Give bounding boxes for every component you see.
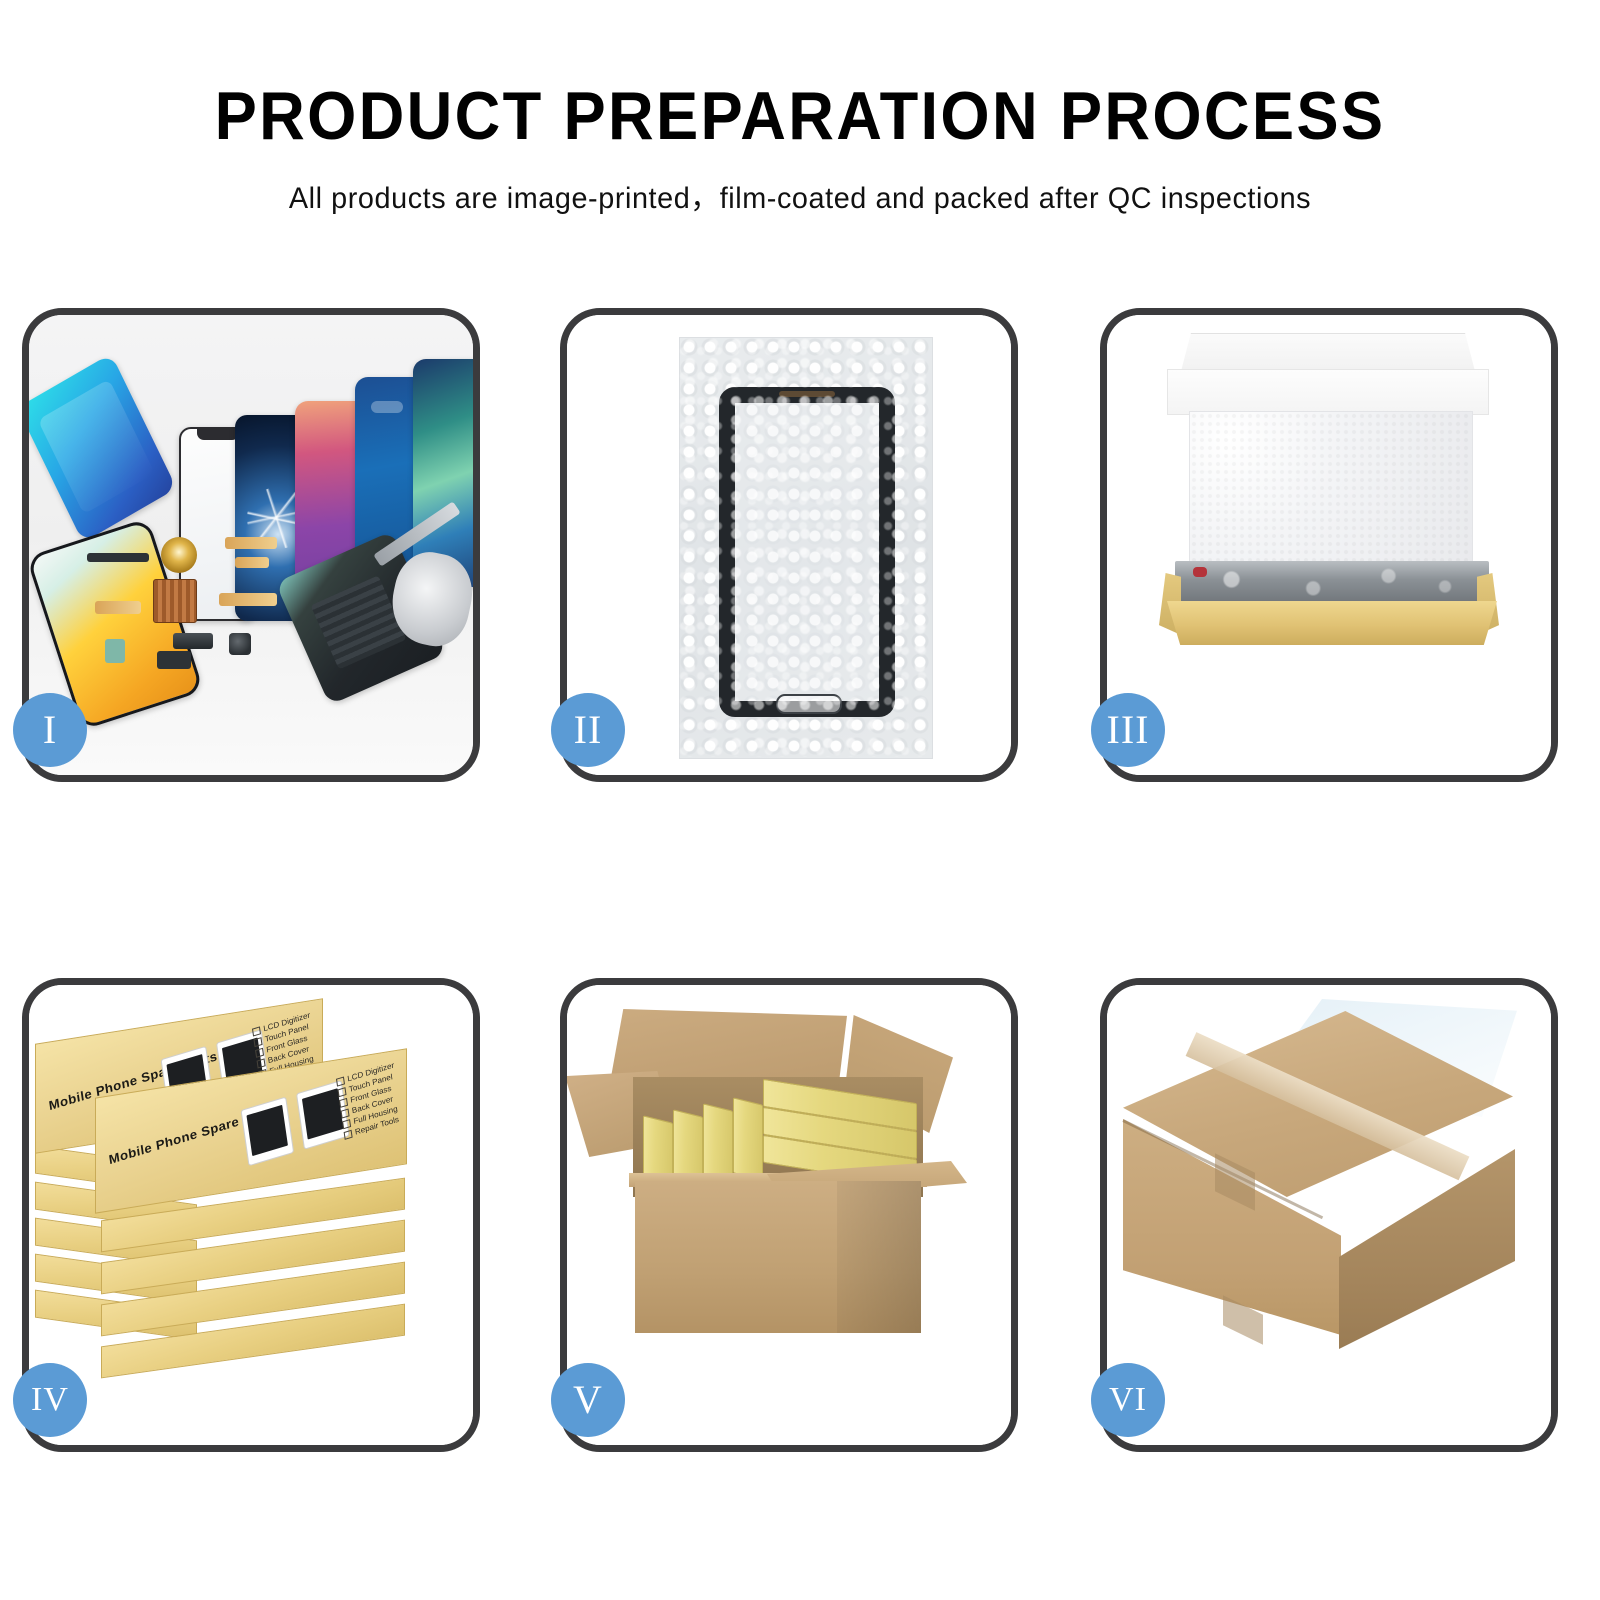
volume-flex-part xyxy=(219,593,277,606)
step-image-2 xyxy=(567,315,1011,775)
page-subtitle: All products are image-printed，film-coat… xyxy=(32,151,1568,217)
carton-body xyxy=(635,1181,921,1333)
vibrator-part xyxy=(157,651,191,669)
step-badge-1: I xyxy=(13,693,87,767)
sealed-carton-side xyxy=(1339,1149,1515,1349)
ic-chip-part xyxy=(153,579,197,623)
box-lid-panel xyxy=(1167,369,1489,415)
sealed-carton-scene xyxy=(1107,985,1551,1445)
wrapped-screen-in-box xyxy=(1175,561,1489,605)
step-badge-5: V xyxy=(551,1363,625,1437)
sim-tray-part xyxy=(105,639,125,663)
step-image-1 xyxy=(29,315,473,775)
page-header: PRODUCT PREPARATION PROCESS All products… xyxy=(0,0,1600,217)
step-image-5 xyxy=(567,985,1011,1445)
step-badge-4: IV xyxy=(13,1363,87,1437)
earpiece-speaker-part xyxy=(87,553,149,562)
step-panel-5: V xyxy=(560,978,1018,1452)
mailer-box-scene xyxy=(1107,315,1551,775)
step-image-3 xyxy=(1107,315,1551,775)
flex-cable-part-a xyxy=(225,537,277,549)
mini-screen-image xyxy=(241,1097,295,1167)
step-badge-3: III xyxy=(1091,693,1165,767)
parts-montage-scene xyxy=(29,315,473,775)
step-panel-6: VI xyxy=(1100,978,1558,1452)
process-step-grid: I II III xyxy=(22,308,1562,1454)
step-image-6 xyxy=(1107,985,1551,1445)
blue-oled-panel-image xyxy=(29,354,177,543)
flex-cable-part-b xyxy=(235,557,269,568)
wireless-charging-coil-part xyxy=(161,537,197,573)
retail-box-checklist-front: LCD Digitizer Touch Panel Front Glass Ba… xyxy=(336,1060,403,1141)
open-carton-scene xyxy=(567,985,1011,1445)
checkbox-icon xyxy=(343,1129,352,1139)
step-panel-3: III xyxy=(1100,308,1558,782)
step-panel-2: II xyxy=(560,308,1018,782)
loudspeaker-part xyxy=(173,633,213,649)
camera-flex-part xyxy=(95,601,141,614)
red-label-dot xyxy=(1193,567,1207,577)
step-panel-4: Mobile Phone Spare Parts LCD Digitizer T… xyxy=(22,978,480,1452)
white-foam-padding xyxy=(1189,411,1473,565)
stacked-boxes-scene: Mobile Phone Spare Parts LCD Digitizer T… xyxy=(29,985,473,1445)
step-badge-6: VI xyxy=(1091,1363,1165,1437)
step-badge-2: II xyxy=(551,693,625,767)
page-title: PRODUCT PREPARATION PROCESS xyxy=(56,0,1544,151)
step-image-4: Mobile Phone Spare Parts LCD Digitizer T… xyxy=(29,985,473,1445)
packed-box xyxy=(733,1097,763,1180)
step-panel-1: I xyxy=(22,308,480,782)
box-front-wall xyxy=(1167,601,1497,645)
bubble-wrap-scene xyxy=(567,315,1011,775)
camera-module-part xyxy=(229,633,251,655)
wrapped-screen-assembly xyxy=(719,387,895,717)
